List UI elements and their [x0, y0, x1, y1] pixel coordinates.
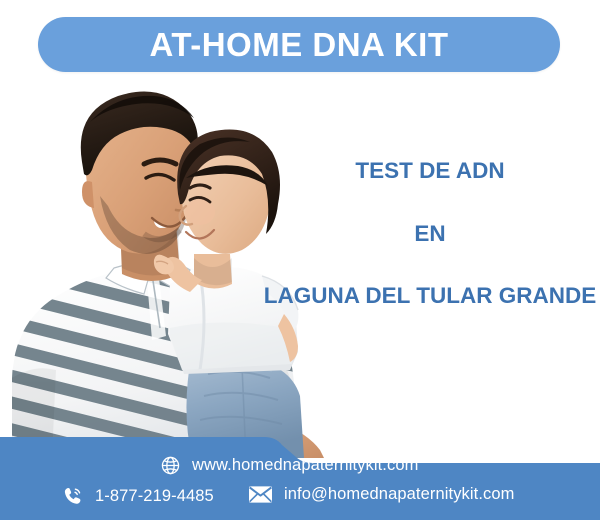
globe-icon	[160, 455, 181, 476]
title-banner: AT-HOME DNA KIT	[38, 17, 560, 72]
page-title: AT-HOME DNA KIT	[150, 28, 449, 61]
headline-line-3: LAGUNA DEL TULAR GRANDE	[250, 285, 600, 308]
phone-text: 1-877-219-4485	[95, 487, 214, 506]
footer-content: www.homednapaternitykit.com 1-877-219-44…	[0, 425, 600, 520]
website-text: www.homednapaternitykit.com	[192, 456, 418, 475]
headline-line-1: TEST DE ADN	[250, 160, 600, 183]
promo-card: AT-HOME DNA KIT	[0, 0, 600, 520]
headline-block: TEST DE ADN EN LAGUNA DEL TULAR GRANDE	[250, 160, 600, 308]
headline-line-2: EN	[250, 223, 600, 246]
footer-website[interactable]: www.homednapaternitykit.com	[160, 455, 418, 476]
footer-phone[interactable]: 1-877-219-4485	[62, 485, 214, 507]
email-text: info@homednapaternitykit.com	[284, 485, 515, 504]
footer-email[interactable]: info@homednapaternitykit.com	[248, 485, 515, 504]
phone-icon	[62, 485, 84, 507]
envelope-icon	[248, 485, 273, 504]
